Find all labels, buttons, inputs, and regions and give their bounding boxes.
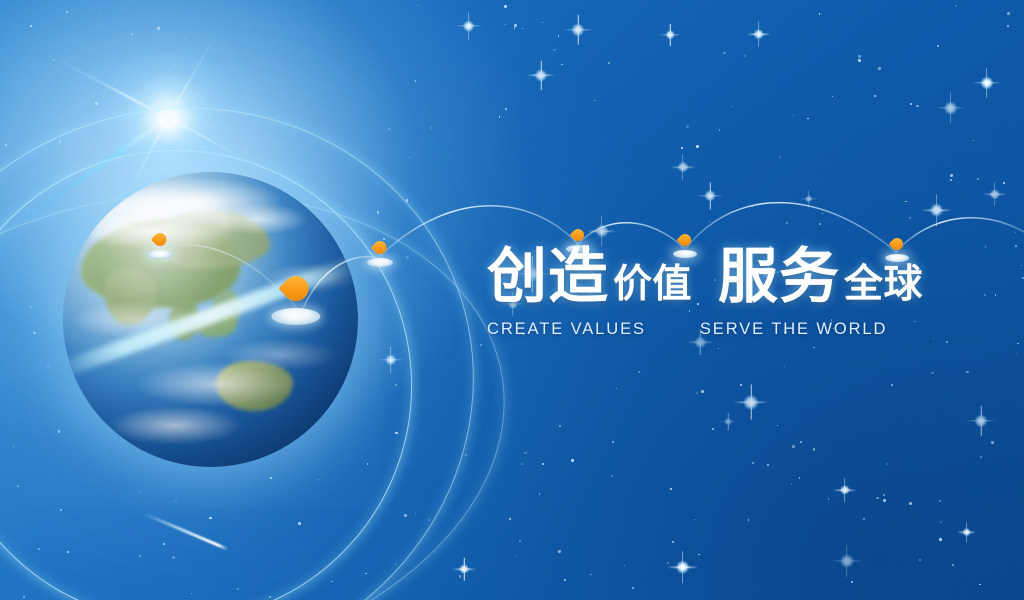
star-dot (777, 425, 778, 426)
star-dot (910, 103, 912, 105)
star-dot (985, 246, 987, 248)
star-dot (874, 95, 876, 97)
star-dot (505, 108, 507, 110)
star-dot (66, 11, 68, 13)
banner-hero: 创造 价值 服务 全球 CREATE VALUES SERVE THE WORL… (0, 0, 1024, 600)
sparkle-star-icon (725, 418, 733, 426)
star-dot (950, 174, 953, 177)
sparkle-star-icon (980, 76, 993, 89)
star-dot (571, 459, 574, 462)
sparkle-star-icon (930, 203, 944, 217)
star-dot (952, 564, 954, 566)
star-dot (719, 129, 720, 130)
star-dot (365, 573, 367, 575)
sparkle-star-icon (385, 354, 396, 365)
star-dot (53, 59, 55, 61)
star-dot (638, 371, 640, 373)
star-dot (55, 303, 56, 304)
star-dot (406, 199, 409, 202)
star-dot (67, 551, 69, 553)
star-dot (163, 543, 165, 545)
headline-segment-1-primary: 创造 (487, 246, 609, 308)
star-dot (138, 111, 140, 113)
star-dot (415, 80, 417, 82)
star-dot (389, 348, 390, 349)
sparkle-star-icon (463, 20, 475, 32)
star-dot (173, 63, 175, 65)
sparkle-star-icon (704, 190, 716, 202)
star-dot (30, 25, 32, 27)
star-dot (819, 13, 820, 14)
star-dot (95, 102, 98, 105)
map-pin-route-1 (367, 241, 393, 267)
star-dot (58, 430, 61, 433)
star-dot (317, 479, 319, 481)
star-dot (672, 541, 674, 543)
sparkle-star-icon (676, 560, 690, 574)
sparkle-star-icon (990, 189, 1000, 199)
star-dot (624, 565, 626, 567)
star-dot (393, 558, 395, 560)
star-dot (570, 465, 571, 466)
star-dot (611, 475, 613, 477)
star-dot (784, 366, 785, 367)
star-dot (514, 24, 517, 27)
star-dot (744, 55, 746, 57)
sparkle-star-icon (975, 414, 988, 427)
star-dot (909, 217, 911, 219)
star-dot (59, 140, 62, 143)
sparkle-star-icon (744, 395, 759, 410)
star-dot (459, 575, 462, 578)
star-dot (863, 518, 865, 520)
star-dot (417, 5, 418, 6)
star-dot (786, 222, 788, 224)
star-dot (984, 294, 986, 296)
star-dot (1016, 353, 1018, 355)
subhead-left: CREATE VALUES (487, 320, 646, 339)
star-dot (807, 118, 809, 120)
star-dot (185, 38, 186, 39)
star-dot (553, 49, 556, 52)
star-dot (590, 574, 592, 576)
star-dot (33, 14, 34, 15)
star-dot (270, 477, 272, 479)
star-dot (367, 463, 369, 465)
sparkle-star-icon (805, 195, 812, 202)
star-dot (752, 206, 753, 207)
star-dot (54, 212, 56, 214)
headline-segment-2-secondary: 全球 (844, 254, 923, 316)
star-dot (139, 491, 140, 492)
star-dot (191, 593, 192, 594)
star-dot (748, 519, 750, 521)
star-dot (919, 559, 921, 561)
star-dot (701, 390, 704, 393)
star-dot (139, 555, 141, 557)
star-dot (27, 209, 28, 210)
sparkle-star-icon (595, 225, 608, 238)
star-dot (1007, 12, 1010, 15)
star-dot (883, 499, 886, 502)
star-dot (519, 540, 521, 542)
star-dot (509, 518, 511, 520)
star-dot (931, 372, 933, 374)
star-dot (13, 446, 15, 448)
star-dot (55, 217, 56, 218)
star-dot (905, 201, 907, 203)
star-dot (966, 371, 969, 374)
star-dot (940, 521, 942, 523)
star-dot (1015, 245, 1017, 247)
star-dot (1022, 277, 1024, 279)
star-dot (428, 519, 430, 521)
star-dot (388, 128, 390, 130)
star-dot (564, 579, 566, 581)
star-dot (298, 522, 301, 525)
star-dot (886, 463, 888, 465)
star-dot (542, 463, 544, 465)
star-dot (175, 500, 177, 502)
star-dot (157, 27, 160, 30)
star-dot (430, 127, 432, 129)
star-dot (395, 432, 398, 435)
star-dot (950, 179, 952, 181)
star-dot (30, 306, 32, 308)
sparkle-star-icon (944, 101, 958, 115)
star-dot (196, 534, 197, 535)
star-dot (939, 500, 941, 502)
star-dot (791, 483, 793, 485)
star-dot (980, 456, 982, 458)
star-dot (694, 519, 695, 520)
star-dot (559, 425, 561, 427)
star-dot (524, 452, 526, 454)
star-dot (47, 365, 49, 367)
star-dot (131, 33, 133, 35)
star-dot (698, 554, 700, 556)
sparkle-star-icon (753, 29, 764, 40)
star-dot (539, 493, 540, 494)
star-dot (1015, 232, 1016, 233)
star-dot (516, 555, 517, 556)
pin-drop (371, 238, 389, 256)
star-dot (237, 588, 239, 590)
headline-segment-1-secondary: 价值 (613, 254, 692, 316)
star-dot (686, 125, 689, 128)
star-dot (596, 52, 597, 53)
star-dot (946, 341, 948, 343)
star-dot (723, 52, 725, 54)
star-dot (383, 238, 386, 241)
star-dot (499, 116, 501, 118)
star-dot (755, 462, 756, 463)
star-dot (799, 477, 800, 478)
sparkle-star-icon (460, 564, 470, 574)
star-dot (209, 517, 212, 520)
star-dot (955, 5, 957, 7)
star-dot (1007, 25, 1009, 27)
star-dot (819, 223, 821, 225)
star-dot (17, 485, 19, 487)
sparkle-star-icon (677, 162, 688, 173)
star-dot (56, 300, 57, 301)
star-dot (909, 502, 912, 505)
star-dot (696, 145, 699, 148)
star-dot (522, 28, 523, 29)
star-dot (973, 140, 974, 141)
star-dot (883, 494, 885, 496)
star-dot (514, 27, 516, 29)
star-dot (977, 178, 979, 180)
headline-block: 创造 价值 服务 全球 CREATE VALUES SERVE THE WORL… (487, 246, 957, 339)
star-dot (813, 448, 816, 451)
star-dot (878, 67, 881, 70)
star-dot (1021, 265, 1023, 267)
star-dot (180, 554, 181, 555)
star-dot (594, 100, 596, 102)
star-dot (505, 24, 507, 26)
star-dot (608, 62, 610, 64)
star-dot (851, 581, 853, 583)
star-dot (558, 550, 561, 553)
subhead-right: SERVE THE WORLD (700, 320, 887, 339)
star-dot (5, 144, 7, 146)
star-dot (435, 551, 436, 552)
star-dot (1003, 182, 1005, 184)
star-dot (779, 156, 781, 158)
star-dot (939, 209, 941, 211)
star-dot (409, 157, 410, 158)
star-dot (822, 213, 823, 214)
shooting-star-icon (143, 512, 229, 551)
star-dot (521, 463, 523, 465)
star-dot (632, 587, 634, 589)
star-dot (465, 454, 467, 456)
star-dot (542, 22, 543, 23)
star-dot (916, 105, 919, 108)
sparkle-star-icon (665, 30, 675, 40)
star-dot (740, 384, 742, 386)
star-dot (800, 441, 802, 443)
star-dot (561, 64, 562, 65)
star-dot (612, 441, 614, 443)
star-dot (792, 445, 795, 448)
star-dot (269, 596, 271, 598)
star-dot (331, 581, 333, 583)
star-dot (667, 562, 669, 564)
sparkle-star-icon (840, 485, 850, 495)
star-dot (681, 147, 683, 149)
star-dot (1017, 343, 1019, 345)
sparkle-star-icon (572, 23, 585, 36)
star-dot (767, 464, 769, 466)
star-dot (696, 392, 698, 394)
star-dot (98, 11, 100, 13)
star-dot (395, 384, 397, 386)
star-dot (404, 514, 406, 516)
headline-segment-2-primary: 服务 (718, 246, 840, 308)
star-dot (891, 384, 893, 386)
star-dot (937, 45, 939, 47)
sparkle-star-icon (535, 69, 547, 81)
star-dot (33, 332, 36, 335)
star-dot (832, 96, 833, 97)
star-dot (712, 428, 714, 430)
star-dot (616, 388, 617, 389)
star-dot (172, 556, 174, 558)
star-dot (876, 497, 878, 499)
star-dot (504, 5, 506, 7)
star-dot (793, 115, 794, 116)
star-dot (234, 130, 236, 132)
star-dot (60, 509, 63, 512)
star-dot (995, 294, 997, 296)
star-dot (23, 596, 25, 598)
sparkle-star-icon (840, 554, 854, 568)
star-dot (731, 106, 732, 107)
star-dot (250, 26, 251, 27)
star-dot (709, 221, 710, 222)
star-dot (718, 348, 719, 349)
star-dot (480, 344, 482, 346)
star-dot (558, 35, 560, 37)
star-dot (813, 347, 815, 349)
pin-base (367, 258, 393, 267)
star-dot (415, 513, 416, 514)
star-dot (752, 462, 755, 465)
star-dot (245, 151, 248, 154)
star-dot (670, 488, 672, 490)
star-dot (979, 584, 981, 586)
star-dot (406, 256, 409, 259)
star-dot (858, 59, 861, 62)
star-dot (858, 55, 860, 57)
star-dot (38, 548, 40, 550)
sparkle-star-icon (962, 528, 971, 537)
star-dot (939, 538, 942, 541)
star-dot (828, 498, 830, 500)
star-dot (395, 564, 396, 565)
star-dot (377, 211, 380, 214)
star-dot (991, 441, 994, 444)
earth-globe-icon (63, 172, 358, 467)
